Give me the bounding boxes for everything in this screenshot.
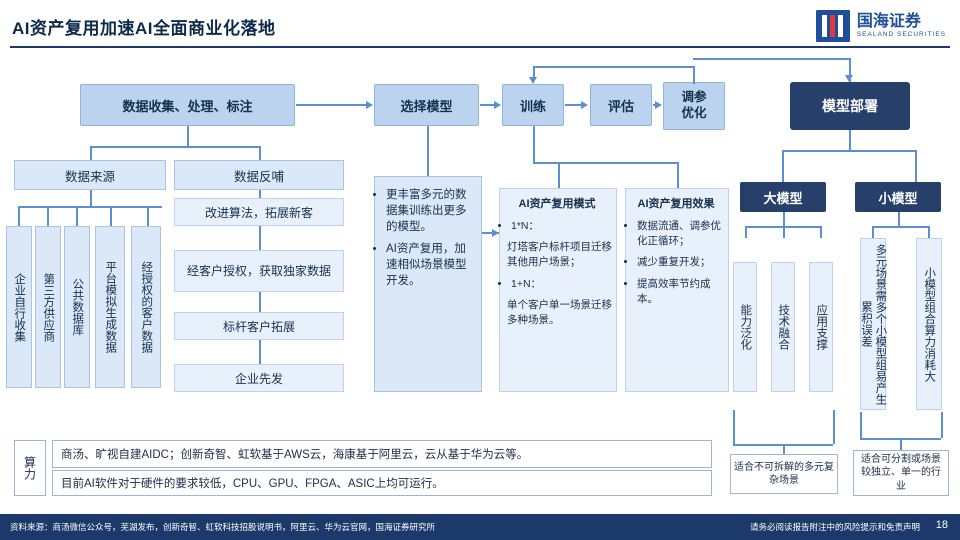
row-compute-1: 商汤、旷视自建AIDC；创新奇智、虹软基于AWS云，海康基于阿里云，云从基于华为… bbox=[52, 440, 712, 468]
connector-ds-spread bbox=[18, 206, 162, 208]
node-big-item-2: 技术融合 bbox=[771, 262, 795, 392]
connector-collect-select bbox=[296, 104, 366, 106]
node-feedback-3: 标杆客户拓展 bbox=[174, 312, 344, 340]
connector-tune-up bbox=[693, 66, 695, 84]
arrow-tune-deploy bbox=[845, 75, 853, 82]
node-feedback-4: 企业先发 bbox=[174, 364, 344, 392]
node-feedback-title: 数据反哺 bbox=[174, 160, 344, 190]
node-source-5: 经授权的客户数据 bbox=[131, 226, 161, 388]
connector-train-down bbox=[533, 126, 535, 162]
connector-ds-down bbox=[90, 190, 92, 206]
node-small-model: 小模型 bbox=[855, 182, 941, 212]
brand-logo: 国海证券 SEALAND SECURITIES bbox=[816, 10, 946, 42]
connector-reuse-right bbox=[677, 162, 679, 188]
arrow-collect-select bbox=[366, 101, 373, 109]
connector-bignote-d bbox=[783, 444, 785, 454]
reuse-mode-item-3: 1+N： bbox=[511, 277, 612, 292]
node-big-model: 大模型 bbox=[740, 182, 826, 212]
connector-reuse-split bbox=[533, 162, 678, 164]
node-source-4: 平台模拟生成数据 bbox=[95, 226, 125, 388]
connector-big-c3 bbox=[820, 226, 822, 238]
node-feedback-2: 经客户授权，获取独家数据 bbox=[174, 250, 344, 292]
connector-smallnote-r bbox=[941, 412, 943, 438]
node-train: 训练 bbox=[502, 84, 564, 126]
connector-ds-t3 bbox=[76, 206, 78, 226]
connector-select-train bbox=[480, 104, 494, 106]
panel-center-note: 更丰富多元的数据集训练出更多的模型。 AI资产复用，加速相似场景模型开发。 bbox=[374, 176, 482, 392]
node-small-item-1: 多元场景需多个小模型组易产生累积误差 bbox=[860, 238, 886, 410]
node-select-model: 选择模型 bbox=[374, 84, 479, 126]
connector-reuse-left bbox=[558, 162, 560, 188]
connector-loop-back bbox=[533, 66, 694, 68]
connector-fb-1 bbox=[259, 190, 261, 198]
arrow-note-reuse bbox=[492, 229, 499, 237]
arrow-loop-train bbox=[529, 77, 537, 84]
connector-small-down bbox=[898, 212, 900, 226]
connector-model-split bbox=[782, 150, 916, 152]
connector-big-c2 bbox=[783, 226, 785, 238]
node-big-item-3: 应用支撑 bbox=[809, 262, 833, 392]
label-compute-power: 算力 bbox=[14, 440, 46, 496]
node-source-1: 企业自行收集 bbox=[6, 226, 32, 388]
connector-tune-deploy bbox=[693, 58, 850, 60]
slide-page: AI资产复用加速AI全面商业化落地 国海证券 SEALAND SECURITIE… bbox=[0, 0, 960, 540]
connector-select-note bbox=[427, 126, 429, 176]
node-source-2: 第三方供应商 bbox=[35, 226, 61, 388]
connector-train-eval bbox=[565, 104, 581, 106]
connector-ds-t5 bbox=[147, 206, 149, 226]
page-title: AI资产复用加速AI全面商业化落地 bbox=[12, 14, 276, 39]
connector-ds-t4 bbox=[110, 206, 112, 226]
connector-small-c1 bbox=[872, 226, 874, 238]
reuse-mode-item-2: 灯塔客户标杆项目迁移其他用户场景； bbox=[507, 240, 612, 270]
connector-smallnote-l bbox=[860, 412, 862, 438]
node-deploy: 模型部署 bbox=[790, 82, 910, 130]
reuse-mode-title: AI资产复用模式 bbox=[500, 189, 612, 219]
arrow-train-eval bbox=[581, 101, 588, 109]
connector-split-right bbox=[259, 146, 261, 160]
reuse-mode-item-1: 1*N： bbox=[511, 219, 612, 234]
logo-text-cn: 国海证券 bbox=[857, 14, 946, 31]
reuse-effect-item-3: 提高效率节约成本。 bbox=[637, 277, 724, 307]
connector-big-c1 bbox=[745, 226, 747, 238]
reuse-effect-item-2: 减少重复开发； bbox=[637, 255, 724, 270]
header-divider bbox=[10, 46, 950, 48]
connector-fb-4 bbox=[259, 340, 261, 364]
panel-reuse-effect: AI资产复用效果 数据流通、调参优化正循环； 减少重复开发； 提高效率节约成本。 bbox=[625, 188, 729, 392]
connector-ds-t1 bbox=[18, 206, 20, 226]
connector-smallmodel-up bbox=[915, 150, 917, 182]
connector-small-spread bbox=[872, 226, 928, 228]
connector-bignote-r bbox=[833, 410, 835, 444]
center-note-item-1: 更丰富多元的数据集训练出更多的模型。 bbox=[386, 187, 477, 235]
note-small-model: 适合可分割或场景较独立、单一的行业 bbox=[853, 450, 949, 496]
node-big-item-1: 能力泛化 bbox=[733, 262, 757, 392]
footer-warning: 请务必阅读报告附注中的风险提示和免责声明 bbox=[750, 521, 920, 533]
arrow-eval-tune bbox=[655, 101, 662, 109]
node-source-3: 公共数据库 bbox=[64, 226, 90, 388]
slide-footer: 资料来源：商汤微信公众号，芜湖发布，创新奇智、虹软科技招股说明书，阿里云、华为云… bbox=[0, 514, 960, 540]
node-data-source-title: 数据来源 bbox=[14, 160, 166, 190]
connector-bigmodel-up bbox=[782, 150, 784, 182]
connector-bignote-l bbox=[733, 410, 735, 444]
connector-fb-2 bbox=[259, 226, 261, 250]
reuse-effect-title: AI资产复用效果 bbox=[626, 189, 724, 219]
note-big-model: 适合不可拆解的多元复杂场景 bbox=[730, 454, 838, 494]
row-compute-2: 目前AI软件对于硬件的要求较低，CPU、GPU、FPGA、ASIC上均可运行。 bbox=[52, 470, 712, 496]
connector-fb-3 bbox=[259, 292, 261, 312]
logo-mark-icon bbox=[816, 10, 850, 42]
logo-text-en: SEALAND SECURITIES bbox=[857, 31, 946, 38]
footer-source: 资料来源：商汤微信公众号，芜湖发布，创新奇智、虹软科技招股说明书，阿里云、华为云… bbox=[10, 521, 435, 533]
reuse-mode-item-4: 单个客户单一场景迁移多种场景。 bbox=[507, 298, 612, 328]
connector-collect-down bbox=[187, 126, 189, 146]
footer-page-number: 18 bbox=[936, 519, 948, 531]
node-small-item-2: 小模型组合算力消耗大 bbox=[916, 238, 942, 410]
center-note-item-2: AI资产复用，加速相似场景模型开发。 bbox=[386, 241, 477, 289]
connector-deploy-down bbox=[849, 130, 851, 150]
connector-collect-split bbox=[90, 146, 260, 148]
reuse-effect-item-1: 数据流通、调参优化正循环； bbox=[637, 219, 724, 249]
arrow-select-train bbox=[494, 101, 501, 109]
connector-split-left bbox=[90, 146, 92, 160]
node-feedback-1: 改进算法，拓展新客 bbox=[174, 198, 344, 226]
node-tune: 调参 优化 bbox=[663, 82, 725, 130]
connector-small-c2 bbox=[928, 226, 930, 238]
connector-ds-t2 bbox=[47, 206, 49, 226]
connector-smallnote-d bbox=[900, 438, 902, 450]
panel-reuse-mode: AI资产复用模式 1*N： 灯塔客户标杆项目迁移其他用户场景； 1+N： 单个客… bbox=[499, 188, 617, 392]
node-evaluate: 评估 bbox=[590, 84, 652, 126]
node-data-collect: 数据收集、处理、标注 bbox=[80, 84, 295, 126]
connector-big-down bbox=[783, 212, 785, 226]
